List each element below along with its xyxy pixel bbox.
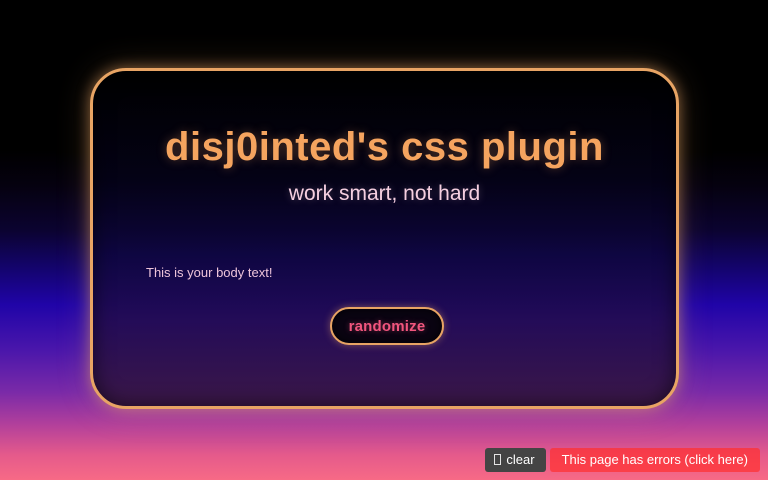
- page-subtitle: work smart, not hard: [93, 182, 676, 206]
- body-text: This is your body text!: [146, 265, 272, 280]
- clear-button-label: clear: [506, 453, 534, 466]
- clear-button[interactable]: clear: [485, 448, 545, 472]
- error-message-banner[interactable]: This page has errors (click here): [550, 448, 760, 472]
- randomize-button[interactable]: randomize: [330, 307, 444, 345]
- error-console-bar: clear This page has errors (click here): [485, 448, 760, 472]
- page-title: disj0inted's css plugin: [93, 125, 676, 170]
- page-root: { "card": { "title": "disj0inted's css p…: [0, 0, 768, 480]
- missing-glyph-box-icon: [494, 454, 501, 465]
- plugin-card: disj0inted's css plugin work smart, not …: [90, 68, 679, 409]
